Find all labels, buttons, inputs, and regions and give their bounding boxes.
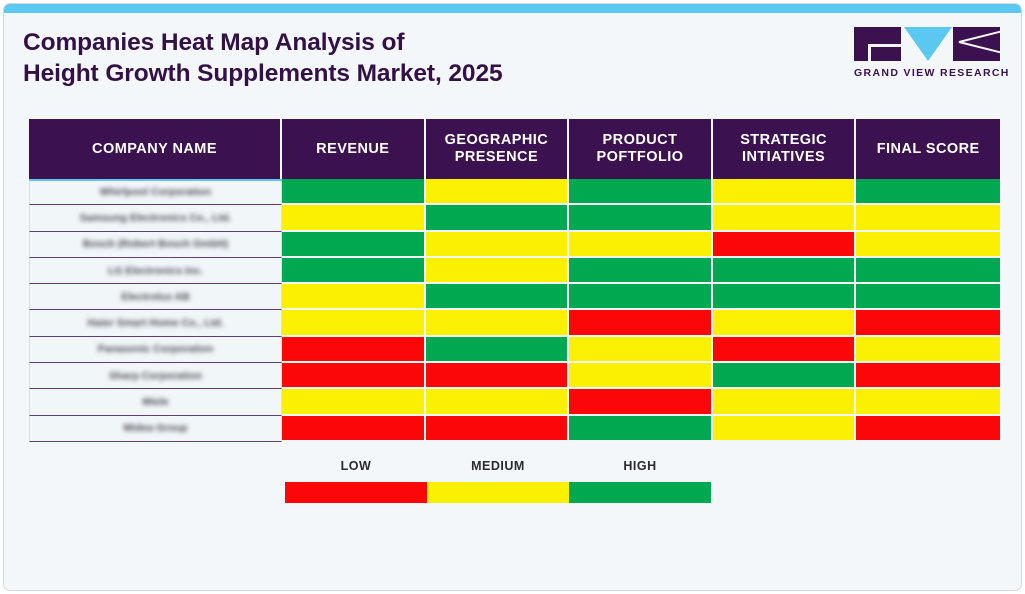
logo-v-icon (904, 27, 952, 61)
company-name-cell: Samsung Electronics Co., Ltd. (29, 205, 282, 231)
company-name-cell: Panasonic Corporation (29, 337, 282, 363)
heatmap-infographic-page: Companies Heat Map Analysis of Height Gr… (0, 0, 1025, 594)
header: Companies Heat Map Analysis of Height Gr… (4, 13, 1021, 108)
heatmap-cell (569, 389, 713, 415)
table-row: Samsung Electronics Co., Ltd. (29, 205, 1000, 231)
heatmap-cell (713, 232, 857, 258)
heatmap-cell (856, 310, 1000, 336)
heatmap-cell (856, 363, 1000, 389)
page-title-line1: Companies Heat Map Analysis of (23, 27, 723, 58)
heatmap-cell (282, 258, 426, 284)
table-row: Miele (29, 389, 1000, 415)
table-body: Whirlpool CorporationSamsung Electronics… (29, 179, 1000, 442)
heatmap-cell (713, 284, 857, 310)
top-accent-bar (4, 4, 1021, 13)
heatmap-cell (569, 284, 713, 310)
legend-label-medium: MEDIUM (427, 459, 569, 473)
heatmap-cell (856, 258, 1000, 284)
heatmap-cell (856, 179, 1000, 205)
heatmap-cell (713, 205, 857, 231)
company-name-cell: LG Electronics Inc. (29, 258, 282, 284)
heatmap-cell (713, 310, 857, 336)
company-name-cell: Whirlpool Corporation (29, 179, 282, 205)
logo-g-icon (854, 27, 901, 61)
company-name-cell: Midea Group (29, 416, 282, 442)
heatmap-cell (282, 416, 426, 442)
heatmap-cell (856, 337, 1000, 363)
heatmap-cell (282, 337, 426, 363)
table-row: LG Electronics Inc. (29, 258, 1000, 284)
company-name-cell: Haier Smart Home Co., Ltd. (29, 310, 282, 336)
heatmap-cell (426, 337, 570, 363)
heatmap-cell (569, 205, 713, 231)
column-header-company-name: COMPANY NAME (29, 119, 282, 179)
heatmap-cell (569, 179, 713, 205)
heatmap-cell (856, 416, 1000, 442)
heatmap-cell (426, 363, 570, 389)
legend-swatch-high (569, 482, 711, 503)
heatmap-cell (569, 337, 713, 363)
column-header-strategic-initiatives: STRATEGIC INTIATIVES (713, 119, 857, 179)
table-row: Haier Smart Home Co., Ltd. (29, 310, 1000, 336)
heatmap-cell (856, 205, 1000, 231)
heatmap-cell (856, 284, 1000, 310)
legend-swatch-low (285, 482, 427, 503)
company-name-label: Miele (142, 396, 168, 408)
heatmap-cell (282, 232, 426, 258)
heatmap-cell (713, 337, 857, 363)
company-name-label: Panasonic Corporation (98, 343, 214, 355)
heatmap-cell (426, 179, 570, 205)
heatmap-cell (856, 389, 1000, 415)
infographic-card: Companies Heat Map Analysis of Height Gr… (3, 3, 1022, 591)
table-row: Electrolux AB (29, 284, 1000, 310)
page-title-line2: Height Growth Supplements Market, 2025 (23, 58, 723, 89)
legend-color-bar (285, 482, 711, 503)
column-header-geographic-presence: GEOGRAPHIC PRESENCE (426, 119, 570, 179)
heatmap-cell (282, 179, 426, 205)
legend-swatch-medium (427, 482, 569, 503)
column-header-product-portfolio: PRODUCT POFTFOLIO (569, 119, 713, 179)
heatmap-cell (569, 363, 713, 389)
heatmap-cell (426, 232, 570, 258)
heatmap-cell (569, 310, 713, 336)
company-name-label: Electrolux AB (121, 291, 189, 303)
table-row: Bosch (Robert Bosch GmbH) (29, 232, 1000, 258)
heatmap-cell (713, 416, 857, 442)
table-row: Whirlpool Corporation (29, 179, 1000, 205)
legend: LOW MEDIUM HIGH (285, 459, 711, 503)
heatmap-table: COMPANY NAME REVENUE GEOGRAPHIC PRESENCE… (29, 119, 1000, 442)
heatmap-cell (282, 310, 426, 336)
logo-wordmark: GRAND VIEW RESEARCH (854, 67, 1000, 79)
company-name-label: Sharp Corporation (109, 370, 202, 382)
page-title: Companies Heat Map Analysis of Height Gr… (23, 27, 723, 89)
grand-view-research-logo: GRAND VIEW RESEARCH (854, 27, 1000, 87)
logo-r-icon (953, 27, 1000, 61)
heatmap-cell (282, 284, 426, 310)
heatmap-cell (426, 205, 570, 231)
table-row: Midea Group (29, 416, 1000, 442)
heatmap-cell (569, 416, 713, 442)
heatmap-cell (426, 284, 570, 310)
heatmap-cell (426, 258, 570, 284)
company-name-cell: Miele (29, 389, 282, 415)
company-name-label: Haier Smart Home Co., Ltd. (88, 317, 224, 329)
table-row: Panasonic Corporation (29, 337, 1000, 363)
heatmap-cell (713, 389, 857, 415)
heatmap-cell (426, 416, 570, 442)
company-name-label: Whirlpool Corporation (100, 186, 211, 198)
legend-label-high: HIGH (569, 459, 711, 473)
company-name-cell: Sharp Corporation (29, 363, 282, 389)
company-column-underline (29, 179, 282, 181)
heatmap-cell (426, 389, 570, 415)
legend-labels: LOW MEDIUM HIGH (285, 459, 711, 473)
legend-label-low: LOW (285, 459, 427, 473)
heatmap-cell (282, 389, 426, 415)
company-name-label: LG Electronics Inc. (108, 265, 203, 277)
company-name-label: Bosch (Robert Bosch GmbH) (83, 238, 228, 250)
company-name-label: Midea Group (123, 422, 187, 434)
heatmap-cell (856, 232, 1000, 258)
table-header-row: COMPANY NAME REVENUE GEOGRAPHIC PRESENCE… (29, 119, 1000, 179)
heatmap-cell (713, 179, 857, 205)
heatmap-cell (713, 363, 857, 389)
heatmap-cell (569, 258, 713, 284)
heatmap-cell (569, 232, 713, 258)
heatmap-cell (282, 205, 426, 231)
company-name-cell: Bosch (Robert Bosch GmbH) (29, 232, 282, 258)
company-name-cell: Electrolux AB (29, 284, 282, 310)
logo-marks (854, 27, 1000, 63)
table-row: Sharp Corporation (29, 363, 1000, 389)
company-name-label: Samsung Electronics Co., Ltd. (80, 212, 232, 224)
heatmap-cell (282, 363, 426, 389)
column-header-revenue: REVENUE (282, 119, 426, 179)
column-header-final-score: FINAL SCORE (856, 119, 1000, 179)
heatmap-cell (713, 258, 857, 284)
heatmap-cell (426, 310, 570, 336)
